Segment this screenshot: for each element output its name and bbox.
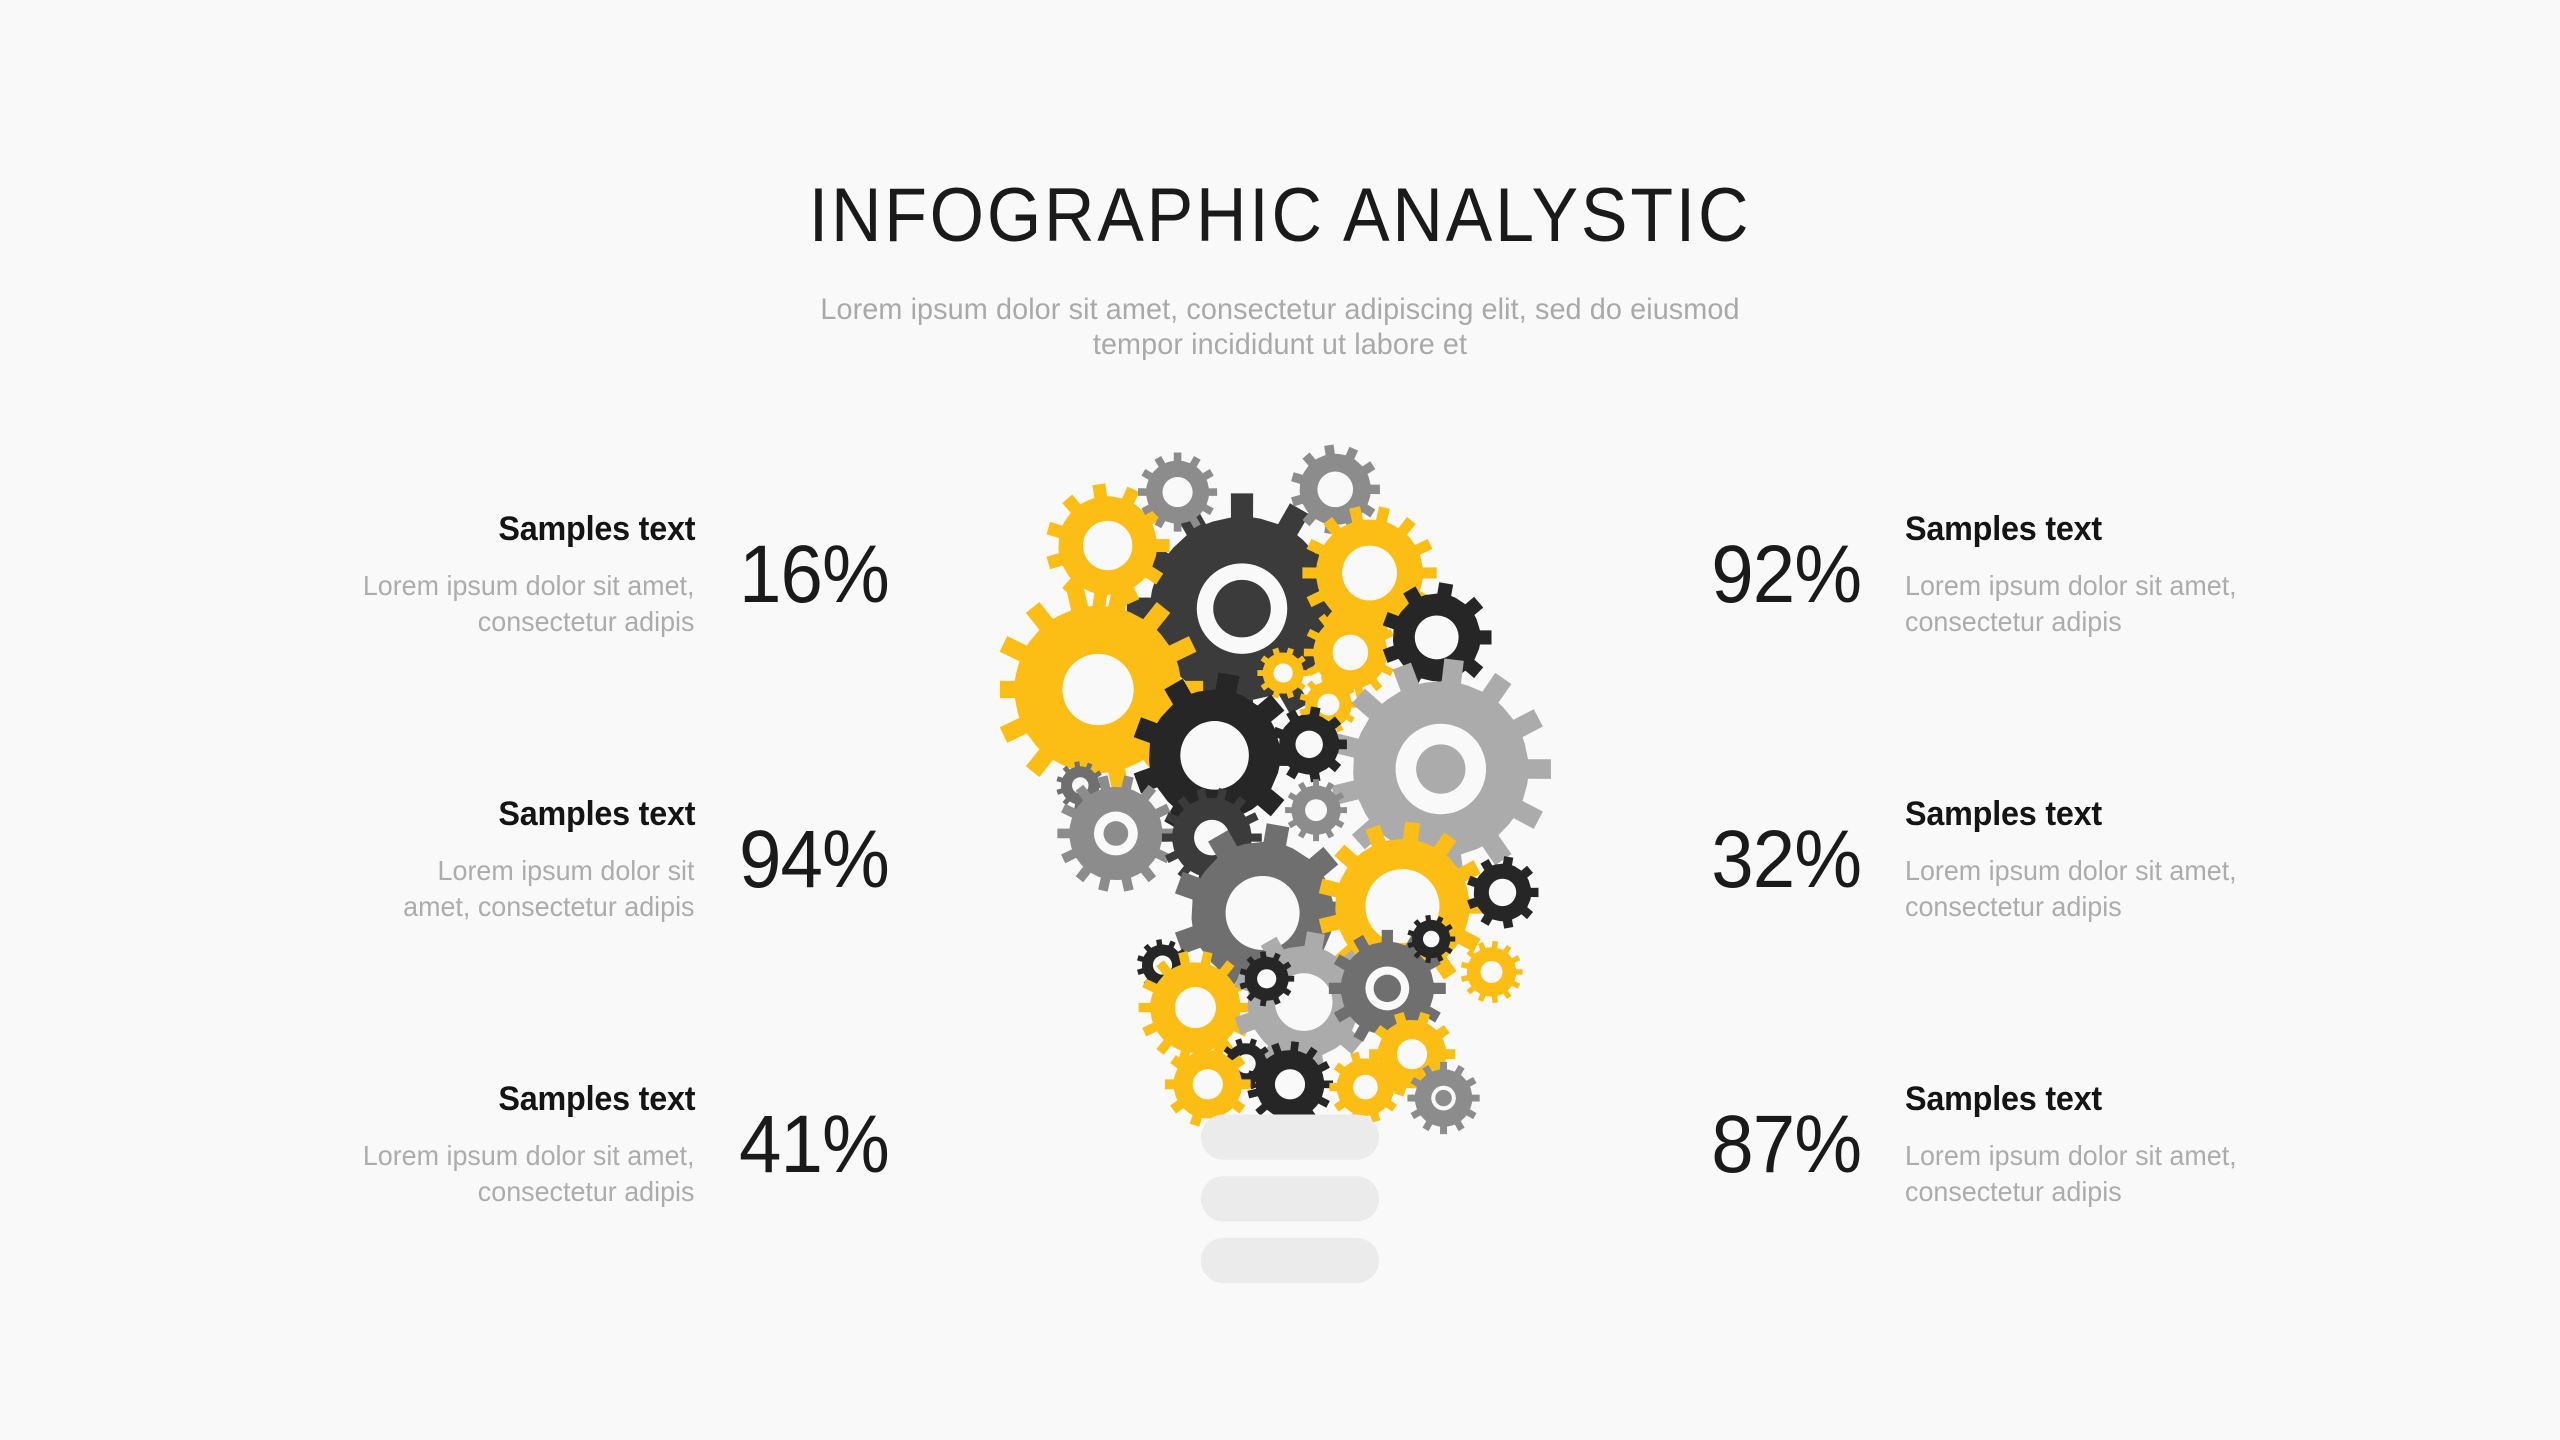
stat-description: Lorem ipsum dolor sit amet, consectetur … xyxy=(1905,853,2237,926)
stat-desc-line-2: consectetur adipis xyxy=(1905,604,2237,640)
stat-heading: Samples text xyxy=(498,1079,695,1120)
stat-desc-line-2: consectetur adipis xyxy=(1905,1174,2237,1210)
gear-icon xyxy=(1467,856,1538,928)
gear-icon xyxy=(1461,941,1523,1003)
stat-description: Lorem ipsum dolor sit amet, consectetur … xyxy=(363,568,695,641)
header: INFOGRAPHIC ANALYSTIC Lorem ipsum dolor … xyxy=(0,0,2560,363)
gear-hub xyxy=(1374,975,1401,1002)
gear-hole xyxy=(1342,546,1397,601)
gear-hole xyxy=(1295,731,1322,758)
gear-hole xyxy=(1175,987,1216,1028)
bulb-base-ring-1 xyxy=(1201,1115,1379,1160)
gear-hole xyxy=(1083,521,1132,570)
gear-icon xyxy=(1272,706,1347,782)
stat-text-block: Samples text Lorem ipsum dolor sit amet,… xyxy=(1905,509,2250,641)
gear-hole xyxy=(1317,472,1353,508)
stat-heading: Samples text xyxy=(1905,509,2102,550)
gear-hole xyxy=(1353,1075,1378,1100)
stat-desc-line-1: Lorem ipsum dolor sit xyxy=(404,853,695,889)
gear-hole xyxy=(1333,635,1369,671)
gear-hub xyxy=(1435,1090,1451,1106)
stat-description: Lorem ipsum dolor sit amet, consectetur … xyxy=(404,853,695,926)
stat-percentage: 16% xyxy=(739,534,889,616)
gear-hole xyxy=(1305,799,1327,821)
stat-item-right-3[interactable]: 87% Samples text Lorem ipsum dolor sit a… xyxy=(1700,1050,2500,1240)
gear-hole xyxy=(1163,477,1193,507)
stat-heading: Samples text xyxy=(498,509,695,550)
stat-percentage: 32% xyxy=(1711,819,1861,901)
stat-text-block: Samples text Lorem ipsum dolor sit amet,… xyxy=(391,794,695,926)
gear-hole xyxy=(1397,1039,1427,1069)
stat-desc-line-2: amet, consectetur adipis xyxy=(404,889,695,925)
page-title: INFOGRAPHIC ANALYSTIC xyxy=(102,178,2457,254)
gear-hub xyxy=(1104,821,1129,846)
gear-hole xyxy=(1180,721,1249,790)
stat-item-left-1[interactable]: Samples text Lorem ipsum dolor sit amet,… xyxy=(120,480,900,670)
stat-desc-line-1: Lorem ipsum dolor sit amet, xyxy=(1905,1138,2237,1174)
stat-percentage: 92% xyxy=(1711,534,1861,616)
gear-hole xyxy=(1062,654,1133,725)
stat-heading: Samples text xyxy=(498,794,695,835)
gear-hole xyxy=(1481,961,1503,983)
gear-hole xyxy=(1275,1069,1305,1099)
stat-desc-line-1: Lorem ipsum dolor sit amet, xyxy=(1905,568,2237,604)
stat-description: Lorem ipsum dolor sit amet, consectetur … xyxy=(1905,1138,2237,1211)
gear-hole xyxy=(1489,879,1516,906)
stat-percentage: 94% xyxy=(739,819,889,901)
stat-item-right-2[interactable]: 32% Samples text Lorem ipsum dolor sit a… xyxy=(1700,765,2500,955)
gear-hub xyxy=(1416,744,1465,793)
stat-description: Lorem ipsum dolor sit amet, consectetur … xyxy=(1905,568,2237,641)
subtitle-line-1: Lorem ipsum dolor sit amet, consectetur … xyxy=(733,292,1827,327)
bulb-base-ring-2 xyxy=(1201,1176,1379,1221)
stat-heading: Samples text xyxy=(1905,794,2102,835)
stat-text-block: Samples text Lorem ipsum dolor sit amet,… xyxy=(349,1079,694,1211)
stat-text-block: Samples text Lorem ipsum dolor sit amet,… xyxy=(1905,794,2250,926)
gear-hole xyxy=(1257,969,1276,988)
gear-cluster xyxy=(1000,444,1551,1134)
lightbulb-gears-illustration xyxy=(1000,440,1580,1290)
stat-text-block: Samples text Lorem ipsum dolor sit amet,… xyxy=(349,509,694,641)
stat-percentage: 87% xyxy=(1711,1104,1861,1186)
stat-item-left-2[interactable]: Samples text Lorem ipsum dolor sit amet,… xyxy=(120,765,900,955)
page-subtitle: Lorem ipsum dolor sit amet, consectetur … xyxy=(733,254,1827,363)
stat-percentage: 41% xyxy=(739,1104,889,1186)
stat-desc-line-1: Lorem ipsum dolor sit amet, xyxy=(1905,853,2237,889)
gear-hole xyxy=(1274,663,1293,682)
stat-desc-line-2: consectetur adipis xyxy=(363,604,695,640)
gear-hole xyxy=(1226,876,1300,950)
gear-hub xyxy=(1213,580,1271,638)
lightbulb-svg xyxy=(1000,440,1580,1290)
stat-desc-line-2: consectetur adipis xyxy=(363,1174,695,1210)
stat-desc-line-1: Lorem ipsum dolor sit amet, xyxy=(363,1138,695,1174)
gear-hole xyxy=(1423,931,1439,947)
gear-hole xyxy=(1415,615,1459,659)
stat-item-left-3[interactable]: Samples text Lorem ipsum dolor sit amet,… xyxy=(120,1050,900,1240)
gear-hole xyxy=(1317,694,1339,716)
bulb-base-ring-3 xyxy=(1201,1238,1379,1283)
stat-item-right-1[interactable]: 92% Samples text Lorem ipsum dolor sit a… xyxy=(1700,480,2500,670)
subtitle-line-2: tempor incididunt ut labore et xyxy=(733,327,1827,362)
stat-description: Lorem ipsum dolor sit amet, consectetur … xyxy=(363,1138,695,1211)
stat-heading: Samples text xyxy=(1905,1079,2102,1120)
stat-desc-line-2: consectetur adipis xyxy=(1905,889,2237,925)
gear-hole xyxy=(1193,1069,1223,1099)
stat-text-block: Samples text Lorem ipsum dolor sit amet,… xyxy=(1905,1079,2250,1211)
bulb-base xyxy=(1201,1115,1379,1290)
stat-desc-line-1: Lorem ipsum dolor sit amet, xyxy=(363,568,695,604)
